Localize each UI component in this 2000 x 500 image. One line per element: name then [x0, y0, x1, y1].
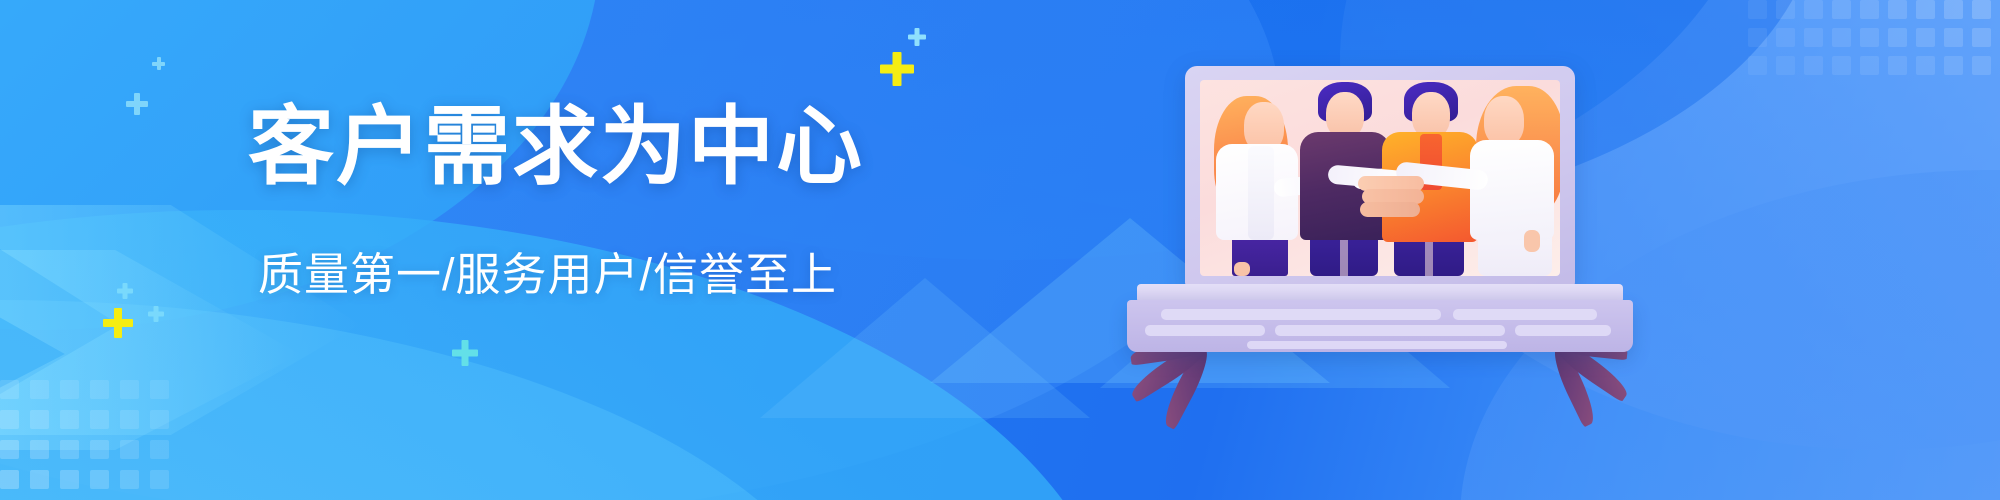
keyboard-row: [1275, 325, 1505, 336]
laptop-keyboard-deck: [1127, 300, 1633, 352]
grid-dot: [1972, 56, 1991, 75]
grid-dot: [60, 410, 79, 429]
grid-dot: [0, 380, 19, 399]
head: [1484, 96, 1524, 146]
laptop-lid: [1185, 66, 1575, 288]
grid-dot: [1832, 56, 1851, 75]
plus-yellow-small-icon: [103, 308, 133, 338]
grid-dot: [1776, 28, 1795, 47]
grid-dot: [120, 410, 139, 429]
grid-dot: [1860, 0, 1879, 19]
grid-dot: [1804, 0, 1823, 19]
grid-dot: [150, 440, 169, 459]
keyboard-row: [1161, 309, 1441, 320]
grid-dot: [1748, 28, 1767, 47]
grid-dot: [1776, 56, 1795, 75]
grid-dot: [30, 380, 49, 399]
banner-copy: 客户需求为中心 质量第一/服务用户/信誉至上: [248, 104, 868, 299]
grid-dot: [90, 380, 109, 399]
grid-dot: [120, 440, 139, 459]
person-woman-right: [1462, 80, 1560, 276]
dot-grid-bottom-left: [0, 380, 180, 500]
grid-dot: [0, 470, 19, 489]
plus-cyan-small-2-icon: [148, 306, 164, 322]
keyboard-row: [1453, 309, 1597, 320]
dot-grid-top-right: [1748, 0, 2000, 84]
grid-dot: [0, 440, 19, 459]
grid-dot: [1860, 56, 1879, 75]
grid-dot: [1916, 56, 1935, 75]
foot: [1234, 262, 1250, 276]
keyboard-row: [1515, 325, 1611, 336]
plus-cyan-teal-icon: [452, 340, 478, 366]
grid-dot: [0, 410, 19, 429]
grid-dot: [1944, 0, 1963, 19]
grid-dot: [30, 440, 49, 459]
grid-dot: [150, 410, 169, 429]
grid-dot: [90, 470, 109, 489]
banner-subline: 质量第一/服务用户/信誉至上: [258, 250, 868, 300]
grid-dot: [60, 380, 79, 399]
grid-dot: [60, 470, 79, 489]
grid-dot: [1916, 28, 1935, 47]
hand: [1524, 230, 1540, 252]
torso: [1470, 140, 1554, 240]
plus-cyan-small-3-icon: [117, 283, 133, 299]
grid-dot: [150, 380, 169, 399]
grid-dot: [30, 410, 49, 429]
plus-cyan-small-1-icon: [908, 28, 926, 46]
grid-dot: [1832, 0, 1851, 19]
grid-dot: [90, 410, 109, 429]
grid-dot: [1888, 56, 1907, 75]
grid-dot: [90, 440, 109, 459]
grid-dot: [1860, 28, 1879, 47]
grid-dot: [1804, 56, 1823, 75]
grid-dot: [150, 470, 169, 489]
grid-dot: [1888, 0, 1907, 19]
grid-dot: [30, 470, 49, 489]
promo-banner: 客户需求为中心 质量第一/服务用户/信誉至上: [0, 0, 2000, 500]
stacked-hands: [1358, 176, 1428, 220]
banner-headline: 客户需求为中心: [248, 104, 868, 192]
plus-cyan-tiny-icon: [152, 57, 165, 70]
grid-dot: [1804, 28, 1823, 47]
grid-dot: [1944, 56, 1963, 75]
plus-yellow-large-icon: [880, 52, 914, 86]
grid-dot: [1776, 0, 1795, 19]
grid-dot: [1944, 28, 1963, 47]
grid-dot: [1888, 28, 1907, 47]
grid-dot: [120, 470, 139, 489]
grid-dot: [120, 380, 139, 399]
plus-cyan-medium-icon: [126, 93, 148, 115]
cardigan-fold: [1248, 146, 1274, 240]
keyboard-row: [1247, 341, 1507, 349]
grid-dot: [1748, 56, 1767, 75]
grid-dot: [1972, 0, 1991, 19]
grid-dot: [1832, 28, 1851, 47]
grid-dot: [1972, 28, 1991, 47]
grid-dot: [1748, 0, 1767, 19]
laptop-illustration: [1185, 66, 1575, 346]
grid-dot: [1916, 0, 1935, 19]
laptop-screen: [1200, 80, 1560, 276]
keyboard-row: [1145, 325, 1265, 336]
grid-dot: [60, 440, 79, 459]
